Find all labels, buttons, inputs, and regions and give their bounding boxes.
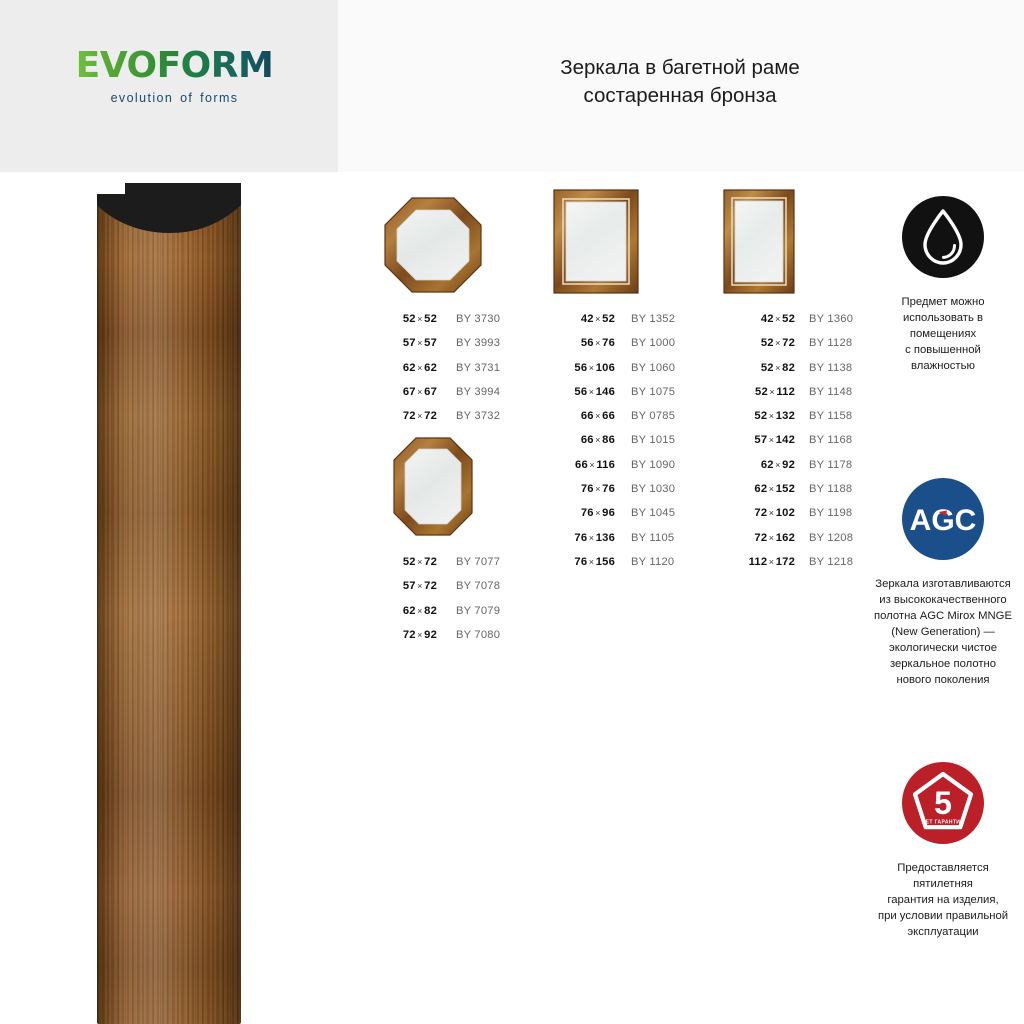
size-dimension: 67×67: [383, 386, 437, 398]
size-dimension: 76×136: [553, 532, 615, 544]
feature-moisture-text: Предмет можно использовать в помещениях …: [868, 294, 1018, 374]
size-dimension: 62×152: [723, 483, 795, 495]
size-row[interactable]: 57×142BY 1168: [723, 434, 898, 458]
feature-agc-text: Зеркала изготавливаются из высококачеств…: [868, 576, 1018, 688]
size-code: BY 3993: [456, 337, 500, 349]
size-code: BY 7079: [456, 605, 500, 617]
size-code: BY 3731: [456, 362, 500, 374]
size-dimension: 62×62: [383, 362, 437, 374]
size-row[interactable]: 56×76BY 1000: [553, 337, 713, 361]
size-list-octagon-tall: 52×72 BY 7077 57×72 BY 7078 62×82 BY 707…: [383, 556, 533, 653]
text-line: зеркальное полотно: [868, 656, 1018, 672]
feature-agc-glass: AGC Зеркала изготавливаются из высококач…: [868, 478, 1018, 688]
feature-warranty-text: Предоставляется пятилетняя гарантия на и…: [868, 860, 1018, 940]
size-dimension: 56×106: [553, 362, 615, 374]
frame-profile-cap-shape: [97, 183, 241, 237]
size-dimension: 76×76: [553, 483, 615, 495]
size-list-octagon-square: 52×52 BY 3730 57×57 BY 3993 62×62 BY 373…: [383, 313, 533, 434]
size-row[interactable]: 76×76BY 1030: [553, 483, 713, 507]
size-dimension: 72×102: [723, 507, 795, 519]
size-dimension: 66×86: [553, 434, 615, 446]
size-dimension: 57×142: [723, 434, 795, 446]
size-row[interactable]: 52×52 BY 3730: [383, 313, 533, 337]
size-row[interactable]: 72×92 BY 7080: [383, 629, 533, 653]
size-code: BY 1188: [809, 483, 852, 495]
size-row[interactable]: 66×116BY 1090: [553, 459, 713, 483]
size-code: BY 1075: [631, 386, 675, 398]
text-line: эксплуатации: [868, 924, 1018, 940]
mirror-thumbnail-octagon-square[interactable]: [383, 196, 533, 299]
size-code: BY 1208: [809, 532, 853, 544]
logo-wordmark: EVOFORM: [62, 48, 287, 84]
size-code: BY 1198: [809, 507, 852, 519]
size-dimension: 72×162: [723, 532, 795, 544]
mirror-group-rectangle-wide: 42×52BY 1352 56×76BY 1000 56×106BY 1060 …: [553, 189, 713, 580]
size-row[interactable]: 42×52BY 1352: [553, 313, 713, 337]
text-line: Предмет можно: [868, 294, 1018, 310]
frame-profile-wood-face: [97, 201, 241, 1024]
size-code: BY 1138: [809, 362, 852, 374]
text-line: пятилетняя: [868, 876, 1018, 892]
mirror-thumbnail-octagon-tall[interactable]: [383, 436, 533, 542]
text-line: из высококачественного: [868, 592, 1018, 608]
text-line: помещениях: [868, 326, 1018, 342]
size-dimension: 66×116: [553, 459, 615, 471]
size-code: BY 1148: [809, 386, 852, 398]
page-title-line-1: Зеркала в багетной раме: [400, 54, 960, 82]
text-line: при условии правильной: [868, 908, 1018, 924]
size-code: BY 1178: [809, 459, 852, 471]
size-dimension: 57×57: [383, 337, 437, 349]
size-code: BY 7078: [456, 580, 500, 592]
size-code: BY 3994: [456, 386, 500, 398]
size-row[interactable]: 62×82 BY 7079: [383, 605, 533, 629]
warranty-caption: ЛЕТ ГАРАНТИИ: [922, 820, 965, 826]
size-code: BY 1128: [809, 337, 852, 349]
size-row[interactable]: 67×67 BY 3994: [383, 386, 533, 410]
size-code: BY 7080: [456, 629, 500, 641]
warranty-5-years-icon: 5 ЛЕТ ГАРАНТИИ: [902, 762, 984, 844]
size-dimension: 66×66: [553, 410, 615, 422]
frame-profile-sample: [97, 183, 241, 1024]
size-code: BY 1105: [631, 532, 674, 544]
size-code: BY 0785: [631, 410, 675, 422]
size-dimension: 72×72: [383, 410, 437, 422]
size-row[interactable]: 57×72 BY 7078: [383, 580, 533, 604]
frame-profile-cross-section: [97, 183, 241, 237]
size-code: BY 1090: [631, 459, 675, 471]
size-code: BY 1360: [809, 313, 853, 325]
text-line: нового поколения: [868, 672, 1018, 688]
size-code: BY 1030: [631, 483, 675, 495]
text-line: Предоставляется: [868, 860, 1018, 876]
size-dimension: 52×52: [383, 313, 437, 325]
size-code: BY 1045: [631, 507, 675, 519]
warranty-number: 5: [934, 785, 952, 821]
water-drop-icon: [902, 196, 984, 278]
size-row[interactable]: 52×72 BY 7077: [383, 556, 533, 580]
size-row[interactable]: 56×146BY 1075: [553, 386, 713, 410]
size-list-rectangle-wide: 42×52BY 1352 56×76BY 1000 56×106BY 1060 …: [553, 313, 713, 580]
size-code: BY 3730: [456, 313, 500, 325]
text-line: влажностью: [868, 358, 1018, 374]
size-row[interactable]: 76×96BY 1045: [553, 507, 713, 531]
size-dimension: 56×76: [553, 337, 615, 349]
size-dimension: 52×112: [723, 386, 795, 398]
size-dimension: 42×52: [723, 313, 795, 325]
text-line: гарантия на изделия,: [868, 892, 1018, 908]
size-dimension: 52×82: [723, 362, 795, 374]
size-dimension: 76×156: [553, 556, 615, 568]
size-dimension: 56×146: [553, 386, 615, 398]
size-dimension: 57×72: [383, 580, 437, 592]
size-row[interactable]: 57×57 BY 3993: [383, 337, 533, 361]
text-line: Зеркала изготавливаются: [868, 576, 1018, 592]
size-dimension: 76×96: [553, 507, 615, 519]
page-header: EVOFORM evolution of forms Зеркала в баг…: [0, 0, 1024, 172]
agc-logo-icon: AGC: [902, 478, 984, 560]
size-dimension: 62×82: [383, 605, 437, 617]
text-line: экологически чистое: [868, 640, 1018, 656]
size-code: BY 3732: [456, 410, 500, 422]
octagon-tall-mirror-svg: [383, 436, 483, 537]
size-dimension: 52×72: [723, 337, 795, 349]
size-code: BY 1015: [631, 434, 675, 446]
size-row[interactable]: 66×86BY 1015: [553, 434, 713, 458]
size-code: BY 1060: [631, 362, 675, 374]
page-title-line-2: состаренная бронза: [400, 82, 960, 110]
size-code: BY 1120: [631, 556, 674, 568]
size-row[interactable]: 76×136BY 1105: [553, 532, 713, 556]
size-code: BY 1218: [809, 556, 853, 568]
brand-logo[interactable]: EVOFORM evolution of forms: [62, 48, 287, 105]
size-dimension: 112×172: [723, 556, 795, 568]
size-dimension: 52×72: [383, 556, 437, 568]
text-line: использовать в: [868, 310, 1018, 326]
feature-warranty: 5 ЛЕТ ГАРАНТИИ Предоставляется пятилетня…: [868, 762, 1018, 940]
octagon-square-mirror-svg: [383, 196, 483, 294]
size-dimension: 72×92: [383, 629, 437, 641]
size-dimension: 42×52: [553, 313, 615, 325]
size-row[interactable]: 52×132BY 1158: [723, 410, 898, 434]
rectangle-narrow-mirror-svg: [723, 189, 795, 294]
feature-moisture-resistant: Предмет можно использовать в помещениях …: [868, 196, 1018, 374]
page-title: Зеркала в багетной раме состаренная брон…: [400, 54, 960, 111]
logo-tagline: evolution of forms: [62, 91, 287, 105]
text-line: полотна AGC Mirox MNGE: [868, 608, 1018, 624]
size-code: BY 1158: [809, 410, 852, 422]
size-row[interactable]: 76×156BY 1120: [553, 556, 713, 580]
size-row[interactable]: 52×112BY 1148: [723, 386, 898, 410]
size-row[interactable]: 66×66BY 0785: [553, 410, 713, 434]
text-line: (New Generation) —: [868, 624, 1018, 640]
mirror-thumbnail-rectangle-wide[interactable]: [553, 189, 713, 299]
mirror-group-octagon-square: 52×52 BY 3730 57×57 BY 3993 62×62 BY 373…: [383, 196, 533, 434]
size-row[interactable]: 56×106BY 1060: [553, 362, 713, 386]
text-line: с повышенной: [868, 342, 1018, 358]
size-code: BY 1352: [631, 313, 675, 325]
agc-wordmark: AGC: [910, 504, 977, 537]
size-dimension: 52×132: [723, 410, 795, 422]
size-code: BY 7077: [456, 556, 500, 568]
size-code: BY 1168: [809, 434, 852, 446]
size-row[interactable]: 72×72 BY 3732: [383, 410, 533, 434]
size-code: BY 1000: [631, 337, 675, 349]
rectangle-wide-mirror-svg: [553, 189, 639, 294]
mirror-group-octagon-tall: 52×72 BY 7077 57×72 BY 7078 62×82 BY 707…: [383, 436, 533, 653]
size-dimension: 62×92: [723, 459, 795, 471]
size-row[interactable]: 62×62 BY 3731: [383, 362, 533, 386]
